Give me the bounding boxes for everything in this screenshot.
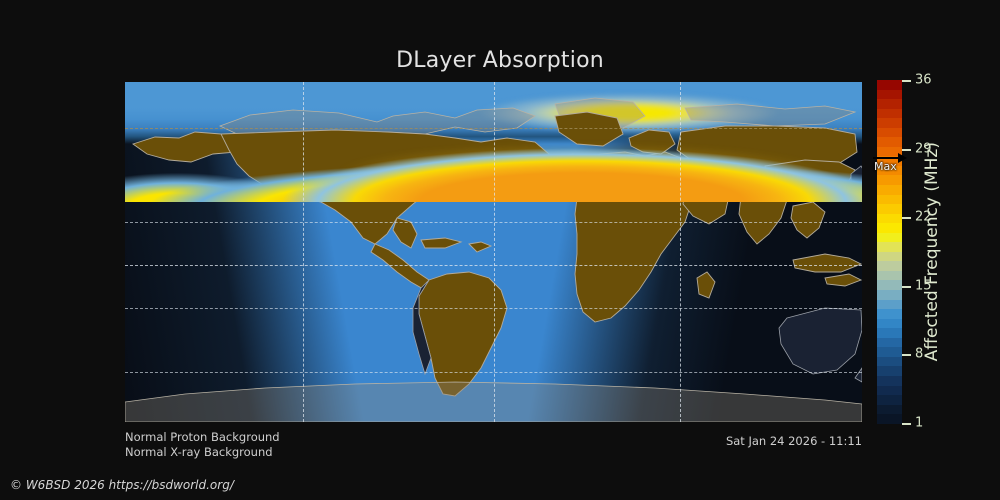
colorbar-segment — [877, 118, 902, 128]
max-marker-label: Max — [874, 160, 897, 173]
colorbar-segment — [877, 195, 902, 205]
colorbar-segment — [877, 80, 902, 90]
colorbar-segment — [877, 386, 902, 396]
absorption-map[interactable] — [125, 82, 862, 422]
gridline-parallel-30n — [125, 222, 862, 223]
colorbar-tick-mark — [902, 423, 911, 425]
xray-status-text: Normal X-ray Background — [125, 445, 273, 459]
colorbar-segment — [877, 271, 902, 281]
colorbar-segment — [877, 328, 902, 338]
colorbar-tick-mark — [902, 149, 911, 151]
gridline-equator — [125, 265, 862, 266]
colorbar-segment — [877, 357, 902, 367]
colorbar-segment — [877, 252, 902, 262]
gridline-meridian-1 — [303, 82, 304, 422]
colorbar-segment — [877, 300, 902, 310]
gridline-meridian-2 — [494, 82, 495, 422]
colorbar-tick-mark — [902, 354, 911, 356]
colorbar-axis-label-text: Affected Frequency (MHz) — [922, 142, 942, 361]
colorbar-axis-label: Affected Frequency (MHz) — [920, 80, 944, 424]
colorbar-segment — [877, 280, 902, 290]
colorbar-segment — [877, 414, 902, 424]
max-arrow-head-icon — [898, 153, 907, 163]
colorbar-segment — [877, 405, 902, 415]
colorbar-segment — [877, 223, 902, 233]
gridline-parallel-30s — [125, 308, 862, 309]
gridline-parallel-60n — [125, 128, 862, 129]
colorbar-segment — [877, 175, 902, 185]
colorbar-segment — [877, 309, 902, 319]
colorbar-segment — [877, 128, 902, 138]
colorbar-segment — [877, 366, 902, 376]
colorbar-tick-mark — [902, 286, 911, 288]
colorbar-segment — [877, 290, 902, 300]
colorbar-segment — [877, 319, 902, 329]
colorbar-segment — [877, 137, 902, 147]
max-arrow-line — [873, 157, 900, 159]
proton-status-text: Normal Proton Background — [125, 430, 280, 444]
colorbar-segment — [877, 242, 902, 252]
colorbar-segment — [877, 233, 902, 243]
colorbar-segment — [877, 347, 902, 357]
colorbar-segment — [877, 376, 902, 386]
colorbar-segment — [877, 214, 902, 224]
colorbar-segment — [877, 395, 902, 405]
colorbar-segment — [877, 90, 902, 100]
gridline-meridian-3 — [680, 82, 681, 422]
colorbar-tick-mark — [902, 80, 911, 82]
colorbar-segment — [877, 338, 902, 348]
colorbar-segment — [877, 185, 902, 195]
colorbar-segment — [877, 261, 902, 271]
gridline-parallel-60s — [125, 372, 862, 373]
colorbar — [877, 80, 902, 424]
colorbar-segment — [877, 204, 902, 214]
page-title: DLayer Absorption — [0, 48, 1000, 73]
timestamp-text: Sat Jan 24 2026 - 11:11 — [726, 434, 862, 448]
copyright-text: © W6BSD 2026 https://bsdworld.org/ — [10, 478, 234, 492]
colorbar-tick-mark — [902, 217, 911, 219]
colorbar-segment — [877, 99, 902, 109]
colorbar-segment — [877, 109, 902, 119]
